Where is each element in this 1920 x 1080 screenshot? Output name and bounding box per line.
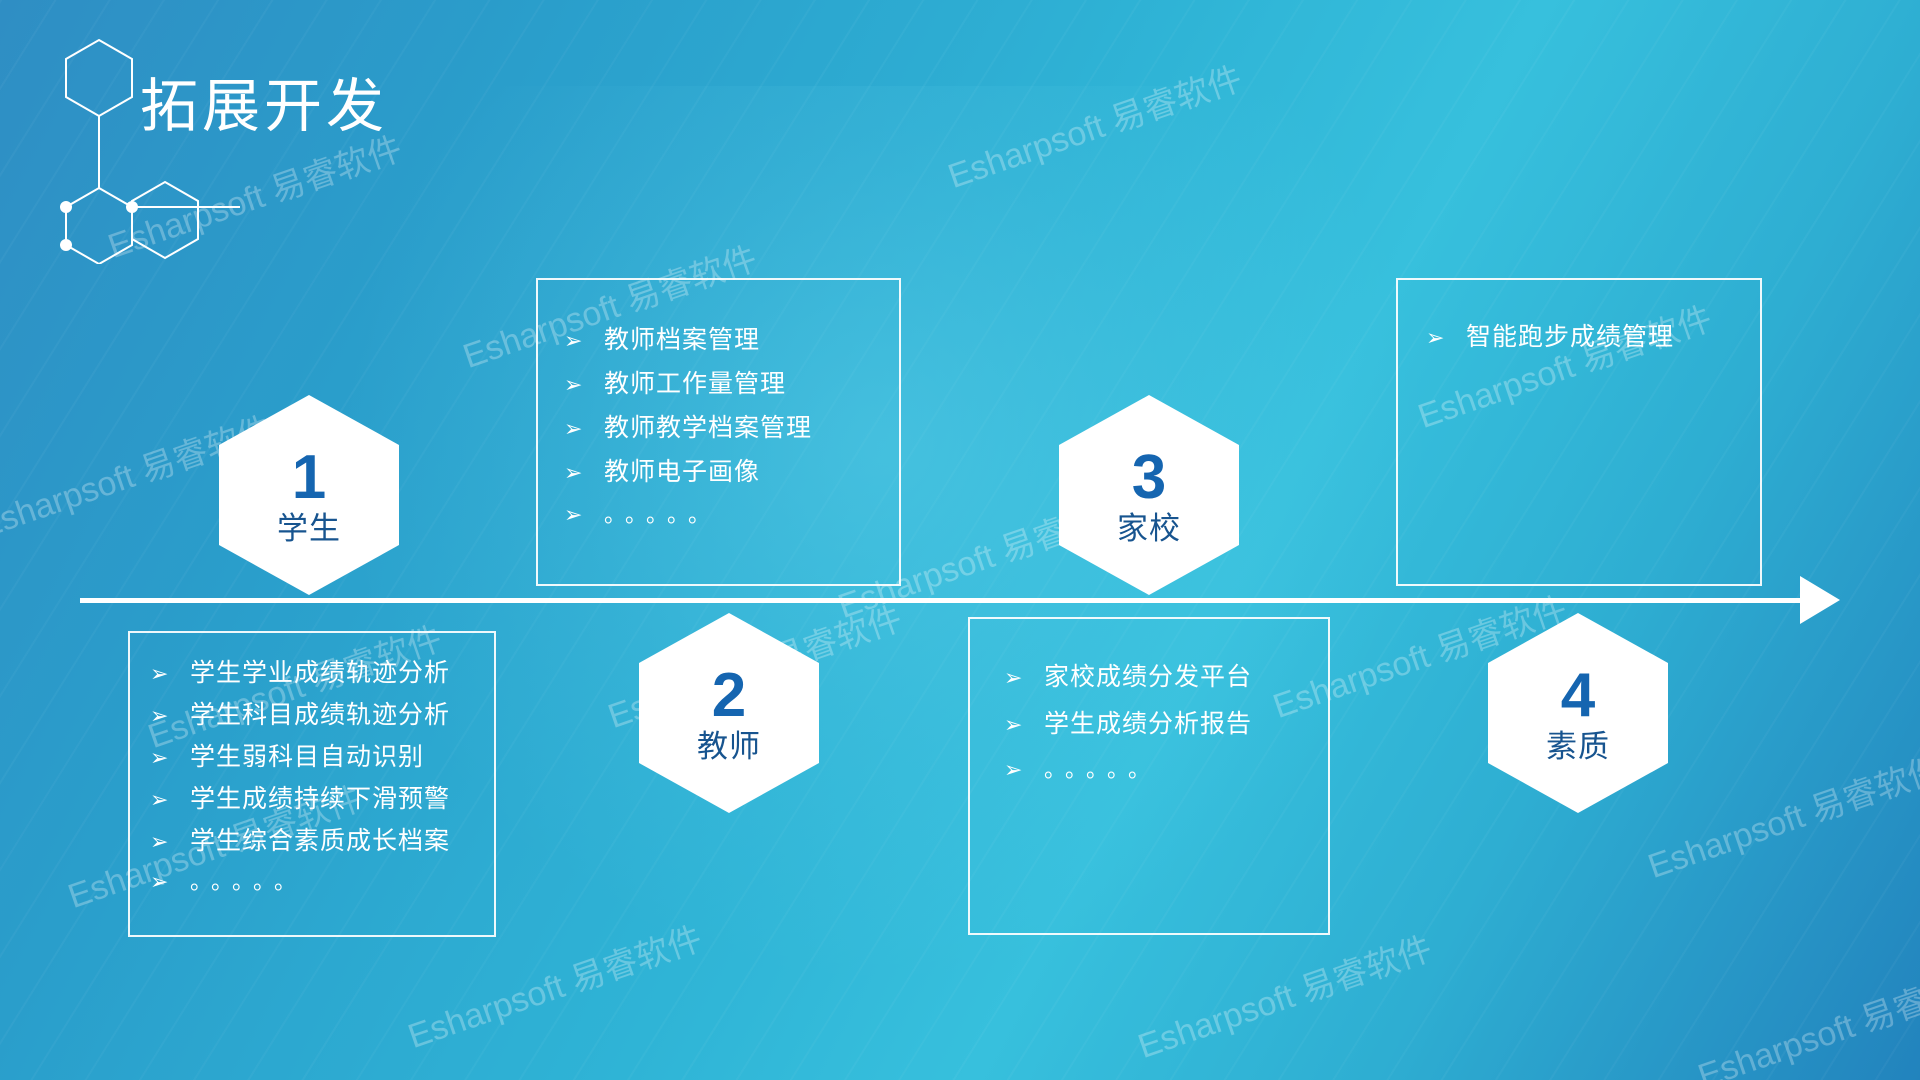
feature-list-item: ➢学生成绩分析报告 (1004, 712, 1328, 737)
feature-list-item: ➢。。。。。 (1004, 759, 1328, 781)
bullet-arrow-icon: ➢ (564, 462, 604, 484)
quality-feature-list: ➢智能跑步成绩管理 (1398, 280, 1760, 350)
bullet-arrow-icon: ➢ (564, 374, 604, 396)
bullet-arrow-icon: ➢ (150, 747, 190, 769)
feature-list-item: ➢智能跑步成绩管理 (1426, 325, 1760, 350)
feature-list-item: ➢。。。。。 (564, 504, 899, 526)
stage-hexagon-3[interactable]: 3 家校 (1059, 395, 1239, 595)
bullet-arrow-icon: ➢ (1004, 667, 1044, 689)
quality-feature-box: ➢智能跑步成绩管理 (1396, 278, 1762, 586)
stage-label: 家校 (1117, 513, 1181, 544)
slide-canvas: Esharpsoft 易睿软件Esharpsoft 易睿软件Esharpsoft… (0, 0, 1920, 1080)
bullet-arrow-icon: ➢ (564, 330, 604, 352)
feature-list-item: ➢教师电子画像 (564, 460, 899, 485)
feature-label: 。。。。。 (1044, 759, 1328, 781)
timeline-axis (80, 598, 1840, 604)
bullet-arrow-icon: ➢ (150, 831, 190, 853)
feature-label: 教师教学档案管理 (604, 416, 899, 441)
feature-list-item: ➢。。。。。 (150, 871, 494, 893)
page-title: 拓展开发 (140, 78, 388, 136)
feature-list-item: ➢教师档案管理 (564, 328, 899, 353)
stage-number: 2 (712, 665, 746, 727)
timeline-bar (80, 598, 1810, 603)
stage-hexagon-2[interactable]: 2 教师 (639, 613, 819, 813)
stage-number: 1 (292, 447, 326, 509)
teacher-feature-list: ➢教师档案管理➢教师工作量管理➢教师教学档案管理➢教师电子画像➢。。。。。 (538, 280, 899, 526)
stage-label: 学生 (277, 513, 341, 544)
feature-label: 学生弱科目自动识别 (190, 745, 494, 770)
student-feature-list: ➢学生学业成绩轨迹分析➢学生科目成绩轨迹分析➢学生弱科目自动识别➢学生成绩持续下… (130, 633, 494, 893)
stage-hexagon-1[interactable]: 1 学生 (219, 395, 399, 595)
feature-label: 学生科目成绩轨迹分析 (190, 703, 494, 728)
feature-label: 学生成绩分析报告 (1044, 712, 1328, 737)
feature-list-item: ➢学生综合素质成长档案 (150, 829, 494, 854)
stage-hexagon-4[interactable]: 4 素质 (1488, 613, 1668, 813)
feature-label: 。。。。。 (190, 871, 494, 893)
feature-list-item: ➢教师教学档案管理 (564, 416, 899, 441)
stage-number: 3 (1132, 447, 1166, 509)
home-school-feature-list: ➢家校成绩分发平台➢学生成绩分析报告➢。。。。。 (970, 619, 1328, 781)
teacher-feature-box: ➢教师档案管理➢教师工作量管理➢教师教学档案管理➢教师电子画像➢。。。。。 (536, 278, 901, 586)
stage-number: 4 (1561, 665, 1595, 727)
bullet-arrow-icon: ➢ (1004, 714, 1044, 736)
watermark-text: Esharpsoft 易睿软件 (1640, 741, 1920, 888)
feature-label: 教师工作量管理 (604, 372, 899, 397)
bullet-arrow-icon: ➢ (150, 789, 190, 811)
feature-label: 教师电子画像 (604, 460, 899, 485)
watermark-text: Esharpsoft 易睿软件 (1690, 951, 1920, 1080)
bullet-arrow-icon: ➢ (1004, 759, 1044, 781)
feature-label: 智能跑步成绩管理 (1466, 325, 1760, 350)
feature-list-item: ➢学生学业成绩轨迹分析 (150, 661, 494, 686)
feature-list-item: ➢学生成绩持续下滑预警 (150, 787, 494, 812)
bullet-arrow-icon: ➢ (150, 705, 190, 727)
feature-label: 教师档案管理 (604, 328, 899, 353)
bullet-arrow-icon: ➢ (150, 663, 190, 685)
bullet-arrow-icon: ➢ (150, 871, 190, 893)
student-feature-box: ➢学生学业成绩轨迹分析➢学生科目成绩轨迹分析➢学生弱科目自动识别➢学生成绩持续下… (128, 631, 496, 937)
feature-label: 学生成绩持续下滑预警 (190, 787, 494, 812)
stage-label: 素质 (1546, 731, 1610, 762)
stage-label: 教师 (697, 731, 761, 762)
watermark-text: Esharpsoft 易睿软件 (940, 51, 1247, 198)
feature-label: 家校成绩分发平台 (1044, 665, 1328, 690)
feature-list-item: ➢学生科目成绩轨迹分析 (150, 703, 494, 728)
feature-label: 学生学业成绩轨迹分析 (190, 661, 494, 686)
bullet-arrow-icon: ➢ (564, 418, 604, 440)
feature-label: 。。。。。 (604, 504, 899, 526)
watermark-text: Esharpsoft 易睿软件 (1130, 921, 1437, 1068)
feature-list-item: ➢学生弱科目自动识别 (150, 745, 494, 770)
feature-list-item: ➢教师工作量管理 (564, 372, 899, 397)
feature-list-item: ➢家校成绩分发平台 (1004, 665, 1328, 690)
hexagon-molecule-decoration (52, 34, 242, 264)
bullet-arrow-icon: ➢ (1426, 327, 1466, 349)
feature-label: 学生综合素质成长档案 (190, 829, 494, 854)
home-school-feature-box: ➢家校成绩分发平台➢学生成绩分析报告➢。。。。。 (968, 617, 1330, 935)
bullet-arrow-icon: ➢ (564, 504, 604, 526)
timeline-arrow-icon (1800, 576, 1840, 624)
